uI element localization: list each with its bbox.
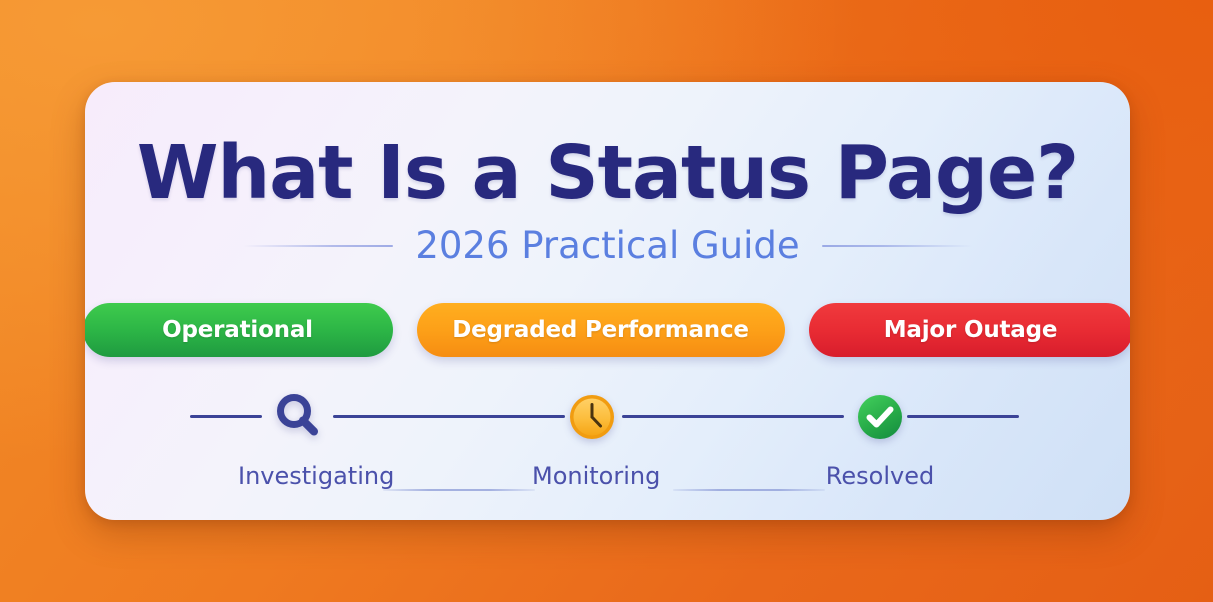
timeline-connector-1 — [333, 415, 565, 418]
page-subtitle: 2026 Practical Guide — [415, 224, 799, 267]
status-badge-degraded-performance[interactable]: Degraded Performance — [417, 303, 785, 357]
magnifier-icon-wrap — [238, 392, 358, 442]
check-circle-icon — [855, 392, 905, 442]
check-circle-icon-wrap — [820, 392, 940, 442]
timeline-step-investigating[interactable]: Investigating — [238, 392, 358, 490]
subtitle-rule-left — [243, 245, 393, 247]
timeline-label-monitoring: Monitoring — [532, 462, 652, 490]
timeline-step-resolved[interactable]: Resolved — [820, 392, 940, 490]
poster-canvas: What Is a Status Page? 2026 Practical Gu… — [0, 0, 1213, 602]
magnifier-icon — [271, 390, 325, 444]
timeline-connector-2 — [622, 415, 844, 418]
timeline-label-resolved: Resolved — [820, 462, 940, 490]
timeline-label-investigating: Investigating — [238, 462, 358, 490]
status-badge-operational[interactable]: Operational — [85, 303, 393, 357]
clock-icon-wrap — [532, 392, 652, 442]
status-badge-group: Operational Degraded Performance Major O… — [85, 303, 1130, 357]
incident-timeline: Investigating — [190, 392, 1019, 492]
timeline-step-monitoring[interactable]: Monitoring — [532, 392, 652, 490]
clock-icon — [567, 392, 617, 442]
page-title: What Is a Status Page? — [85, 130, 1130, 216]
timeline-label-rule-2 — [673, 489, 825, 491]
status-page-card: What Is a Status Page? 2026 Practical Gu… — [85, 82, 1130, 520]
status-badge-major-outage[interactable]: Major Outage — [809, 303, 1131, 357]
subtitle-row: 2026 Practical Guide — [85, 224, 1130, 267]
timeline-label-rule-1 — [383, 489, 535, 491]
subtitle-rule-right — [822, 245, 972, 247]
